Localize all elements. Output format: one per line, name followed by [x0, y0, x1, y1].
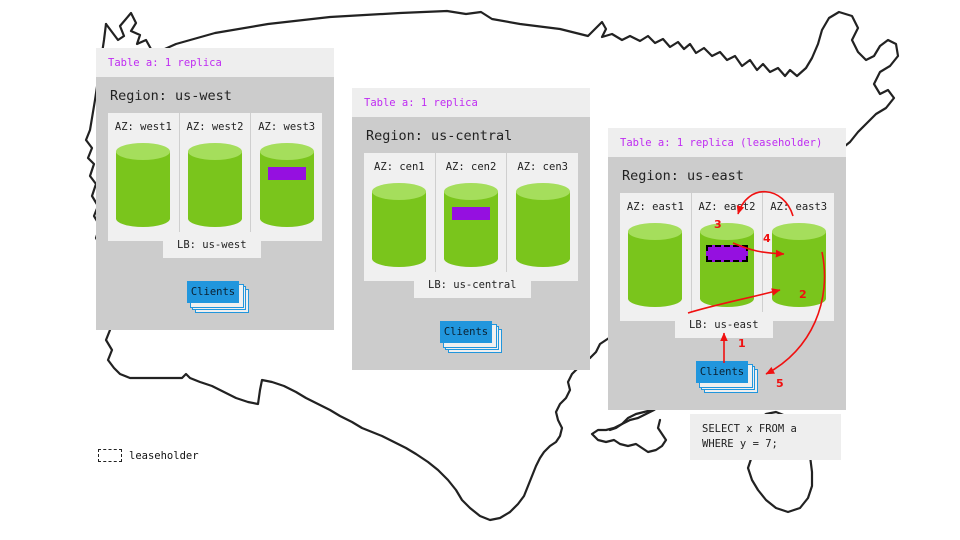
- az-west2[interactable]: AZ: west2: [180, 113, 252, 241]
- leaseholder-swatch-icon: [98, 449, 122, 462]
- az-label: AZ: cen3: [507, 161, 578, 173]
- region-panel-us-west: Table a: 1 replica Region: us-west AZ: w…: [96, 48, 334, 330]
- flow-step-number-2: 2: [799, 288, 807, 301]
- node-cylinder-icon[interactable]: [260, 143, 314, 227]
- az-east1[interactable]: AZ: east1: [620, 193, 692, 321]
- region-panel-us-east: Table a: 1 replica (leaseholder) Region:…: [608, 128, 846, 410]
- region-title-us-central: Region: us-central: [352, 117, 590, 153]
- az-label: AZ: west1: [108, 121, 179, 133]
- node-cylinder-icon[interactable]: [516, 183, 570, 267]
- leaseholder-replica-icon: [706, 245, 748, 262]
- diagram-stage: Table a: 1 replica Region: us-west AZ: w…: [0, 0, 960, 540]
- replica-marker-icon: [268, 167, 306, 180]
- az-row-us-central: AZ: cen1 AZ: cen2 AZ: cen3: [364, 153, 578, 281]
- az-label: AZ: west3: [251, 121, 322, 133]
- az-label: AZ: cen2: [436, 161, 507, 173]
- load-balancer-us-east[interactable]: LB: us-east: [675, 312, 773, 338]
- node-cylinder-icon[interactable]: [188, 143, 242, 227]
- load-balancer-us-central[interactable]: LB: us-central: [414, 272, 531, 298]
- region-title-us-west: Region: us-west: [96, 77, 334, 113]
- flow-step-number-5: 5: [776, 377, 784, 390]
- az-label: AZ: cen1: [364, 161, 435, 173]
- clients-us-west[interactable]: Clients: [187, 281, 243, 307]
- az-east3[interactable]: AZ: east3: [763, 193, 834, 321]
- region-title-us-east: Region: us-east: [608, 157, 846, 193]
- flow-step-number-3: 3: [714, 218, 722, 231]
- az-row-us-east: AZ: east1 AZ: east2 AZ: east3: [620, 193, 834, 321]
- sql-query-box: SELECT x FROM a WHERE y = 7;: [690, 414, 841, 460]
- az-label: AZ: east1: [620, 201, 691, 213]
- node-cylinder-icon[interactable]: [372, 183, 426, 267]
- az-label: AZ: east3: [763, 201, 834, 213]
- az-cen2[interactable]: AZ: cen2: [436, 153, 508, 281]
- node-cylinder-icon[interactable]: [444, 183, 498, 267]
- az-label: AZ: east2: [692, 201, 763, 213]
- az-label: AZ: west2: [180, 121, 251, 133]
- clients-us-central[interactable]: Clients: [440, 321, 496, 347]
- region-header-us-west: Table a: 1 replica: [96, 48, 334, 77]
- clients-label: Clients: [440, 321, 492, 343]
- node-cylinder-icon[interactable]: [628, 223, 682, 307]
- load-balancer-us-west[interactable]: LB: us-west: [163, 232, 261, 258]
- replica-marker-icon: [452, 207, 490, 220]
- az-cen3[interactable]: AZ: cen3: [507, 153, 578, 281]
- clients-label: Clients: [696, 361, 748, 383]
- az-west3[interactable]: AZ: west3: [251, 113, 322, 241]
- region-header-us-east: Table a: 1 replica (leaseholder): [608, 128, 846, 157]
- node-cylinder-icon[interactable]: [700, 223, 754, 307]
- legend: leaseholder: [98, 449, 199, 462]
- clients-us-east[interactable]: Clients: [696, 361, 752, 387]
- clients-label: Clients: [187, 281, 239, 303]
- region-panel-us-central: Table a: 1 replica Region: us-central AZ…: [352, 88, 590, 370]
- az-cen1[interactable]: AZ: cen1: [364, 153, 436, 281]
- region-header-us-central: Table a: 1 replica: [352, 88, 590, 117]
- az-row-us-west: AZ: west1 AZ: west2 AZ: west3: [108, 113, 322, 241]
- flow-step-number-1: 1: [738, 337, 746, 350]
- legend-label: leaseholder: [129, 450, 199, 462]
- az-west1[interactable]: AZ: west1: [108, 113, 180, 241]
- flow-step-number-4: 4: [763, 232, 771, 245]
- node-cylinder-icon[interactable]: [116, 143, 170, 227]
- az-east2[interactable]: AZ: east2: [692, 193, 764, 321]
